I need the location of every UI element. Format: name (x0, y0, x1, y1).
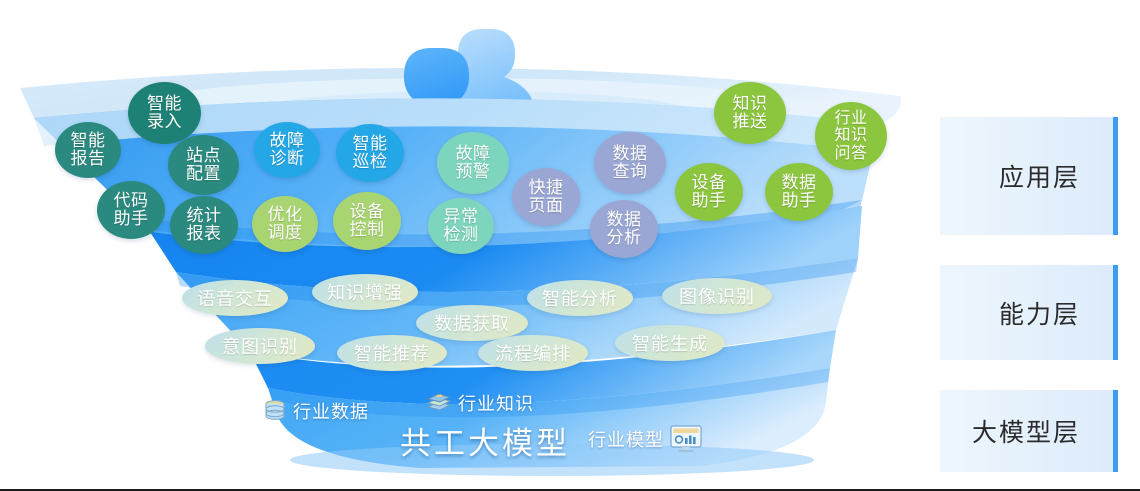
app-bubble-label: 数据 (607, 211, 642, 229)
app-bubble-label: 快捷 (529, 179, 564, 197)
app-bubble-label: 智能 (353, 135, 388, 153)
app-bubble-label: 页面 (529, 197, 564, 215)
app-bubble[interactable]: 知识推送 (714, 82, 786, 144)
app-bubble[interactable]: 快捷页面 (512, 168, 580, 226)
capability-pill[interactable]: 语音交互 (182, 280, 288, 316)
app-bubble-label: 推送 (733, 113, 768, 131)
app-bubble-label: 站点 (186, 147, 221, 165)
model-layer-item[interactable]: 行业模型 (588, 424, 703, 454)
app-bubble[interactable]: 优化调度 (252, 196, 318, 252)
app-bubble[interactable]: 代码助手 (97, 181, 165, 239)
app-bubble[interactable]: 数据查询 (594, 132, 666, 194)
app-bubble[interactable]: 行业知识问答 (815, 102, 887, 170)
books-icon (425, 390, 453, 416)
app-bubble-label: 设备 (692, 174, 727, 192)
capability-pill[interactable]: 智能推荐 (337, 335, 447, 371)
layer-accent-bar (1113, 265, 1118, 360)
app-bubble-label: 查询 (613, 163, 648, 181)
model-layer-item[interactable]: 行业数据 (262, 398, 369, 424)
app-bubble-label: 助手 (782, 192, 817, 210)
app-bubble[interactable]: 异常检测 (428, 198, 494, 254)
layer-label-text: 应用层 (999, 158, 1080, 194)
app-bubble[interactable]: 站点配置 (168, 135, 239, 195)
app-bubble-label: 知识 (834, 127, 867, 144)
app-bubble-label: 助手 (692, 192, 727, 210)
app-bubble[interactable]: 智能报告 (55, 122, 121, 178)
database-icon (262, 398, 288, 424)
app-bubble-label: 优化 (268, 206, 303, 224)
layer-label: 应用层 (940, 117, 1118, 235)
app-bubble-label: 代码 (114, 192, 149, 210)
capability-pill[interactable]: 智能生成 (615, 325, 725, 361)
app-bubble-label: 设备 (350, 203, 385, 221)
app-bubble-label: 智能 (147, 95, 182, 113)
diagram-canvas: 智能报告智能录入站点配置代码助手统计报表故障诊断智能巡检优化调度设备控制故障预警… (0, 0, 1140, 491)
app-bubble-label: 故障 (456, 145, 491, 163)
layer-label-text: 大模型层 (972, 413, 1080, 449)
layer-label: 大模型层 (940, 390, 1118, 472)
app-bubble-label: 分析 (607, 229, 642, 247)
app-bubble-label: 预警 (456, 163, 491, 181)
app-bubble[interactable]: 智能巡检 (336, 124, 404, 182)
app-bubble-label: 异常 (444, 208, 479, 226)
capability-pill[interactable]: 知识增强 (312, 274, 418, 310)
capability-pill[interactable]: 图像识别 (662, 278, 772, 314)
app-bubble[interactable]: 数据助手 (765, 163, 833, 221)
model-layer-item[interactable]: 行业知识 (425, 390, 534, 416)
app-bubble-label: 行业 (834, 110, 867, 127)
monitor-icon (669, 424, 703, 454)
app-bubble-label: 报告 (71, 150, 106, 168)
app-bubble[interactable]: 数据分析 (590, 200, 658, 258)
app-bubble-label: 控制 (350, 221, 385, 239)
model-layer-item-label: 行业知识 (458, 390, 534, 416)
app-bubble-label: 数据 (613, 145, 648, 163)
app-bubble[interactable]: 设备控制 (333, 192, 401, 250)
model-title: 共工大模型 (400, 418, 570, 463)
app-bubble-label: 调度 (268, 224, 303, 242)
app-bubble-label: 问答 (834, 145, 867, 162)
app-bubble[interactable]: 智能录入 (128, 82, 201, 144)
layer-label: 能力层 (940, 265, 1118, 360)
app-bubble-label: 故障 (270, 132, 305, 150)
app-bubble[interactable]: 故障诊断 (254, 122, 320, 178)
app-bubble-label: 诊断 (270, 150, 305, 168)
model-layer-item-label: 行业数据 (293, 398, 369, 424)
app-bubble-label: 配置 (186, 165, 221, 183)
app-bubble-label: 统计 (187, 207, 222, 225)
app-bubble[interactable]: 故障预警 (437, 132, 509, 194)
app-bubble-label: 智能 (71, 132, 106, 150)
model-layer-item-label: 行业模型 (588, 426, 664, 452)
app-bubble-label: 助手 (114, 210, 149, 228)
app-bubble-label: 检测 (444, 226, 479, 244)
capability-pill[interactable]: 意图识别 (205, 328, 315, 364)
capability-pill[interactable]: 智能分析 (527, 280, 633, 316)
layer-accent-bar (1113, 117, 1118, 235)
app-bubble-label: 录入 (147, 113, 182, 131)
app-bubble[interactable]: 统计报表 (170, 196, 238, 254)
app-bubble[interactable]: 设备助手 (675, 163, 743, 221)
app-bubble-label: 巡检 (353, 153, 388, 171)
capability-pill[interactable]: 流程编排 (478, 335, 588, 371)
layer-label-text: 能力层 (999, 295, 1080, 331)
app-bubble-label: 知识 (733, 95, 768, 113)
layer-accent-bar (1113, 390, 1118, 472)
app-bubble-label: 报表 (187, 225, 222, 243)
app-bubble-label: 数据 (782, 174, 817, 192)
